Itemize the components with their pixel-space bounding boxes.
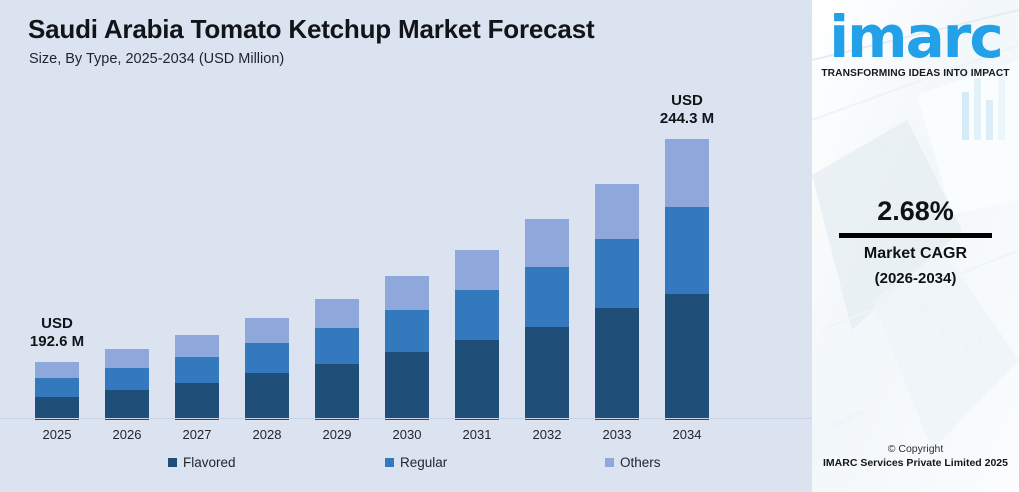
page-title: Saudi Arabia Tomato Ketchup Market Forec… [28,14,594,45]
x-axis-tick-labels: 2025202620272028202920302031203220332034 [0,424,812,448]
bar-segment-flavored [455,340,499,420]
bar-segment-others [245,318,289,343]
x-tick-2034: 2034 [652,427,722,442]
bar-segment-regular [385,310,429,352]
bar-2030 [385,276,429,420]
bar-segment-flavored [105,390,149,420]
imarc-logo: imarc TRANSFORMING IDEAS INTO IMPACT [812,8,1019,79]
x-tick-2032: 2032 [512,427,582,442]
cagr-label: Market CAGR [812,245,1019,263]
bar-segment-flavored [245,373,289,420]
legend-item-others: Others [605,455,661,470]
legend-label-regular: Regular [400,455,447,470]
x-tick-2033: 2033 [582,427,652,442]
cagr-period: (2026-2034) [812,270,1019,287]
logo-tagline: TRANSFORMING IDEAS INTO IMPACT [812,68,1019,79]
bar-segment-flavored [175,383,219,420]
bar-segment-flavored [665,294,709,420]
x-axis-line [0,418,812,419]
bar-segment-regular [35,378,79,397]
copyright-line-1: © Copyright [812,443,1019,455]
infographic-page: Saudi Arabia Tomato Ketchup Market Forec… [0,0,1019,492]
legend-swatch-regular [385,458,394,467]
x-tick-2031: 2031 [442,427,512,442]
legend-swatch-flavored [168,458,177,467]
bar-segment-regular [665,207,709,294]
bar-segment-others [175,335,219,357]
bar-segment-regular [595,239,639,308]
copyright-line-2: IMARC Services Private Limited 2025 [812,457,1019,469]
cagr-divider [839,233,992,238]
x-tick-2028: 2028 [232,427,302,442]
bar-segment-regular [315,328,359,364]
brand-panel: 500.0 0.0 1 2 3 4 0982048 imarc TRANSFOR… [812,0,1019,492]
bar-2029 [315,299,359,420]
bar-segment-others [35,362,79,378]
bar-chart-plot: USD 192.6 MUSD 244.3 M [0,80,812,420]
bar-segment-flavored [525,327,569,420]
logo-wordmark: imarc [812,8,1019,66]
bar-2034: USD 244.3 M [665,139,709,420]
bar-segment-flavored [385,352,429,420]
bar-value-label-2034: USD 244.3 M [627,92,747,130]
legend-swatch-others [605,458,614,467]
legend-item-flavored: Flavored [168,455,236,470]
bar-segment-flavored [35,397,79,420]
bar-segment-others [455,250,499,290]
bar-segment-regular [245,343,289,373]
bar-2032 [525,219,569,420]
legend-label-others: Others [620,455,661,470]
legend-item-regular: Regular [385,455,447,470]
bar-segment-others [105,349,149,368]
bar-2026 [105,349,149,420]
bar-segment-regular [525,267,569,327]
chart-panel: Saudi Arabia Tomato Ketchup Market Forec… [0,0,812,492]
bar-segment-flavored [315,364,359,420]
bar-2025: USD 192.6 M [35,362,79,420]
x-tick-2029: 2029 [302,427,372,442]
bar-segment-others [665,139,709,207]
chart-legend: FlavoredRegularOthers [0,455,812,479]
bar-segment-others [315,299,359,328]
bar-segment-others [595,184,639,239]
bar-segment-flavored [595,308,639,420]
bar-segment-regular [455,290,499,340]
bar-2027 [175,335,219,420]
x-tick-2030: 2030 [372,427,442,442]
copyright-block: © Copyright IMARC Services Private Limit… [812,443,1019,469]
bar-2028 [245,318,289,420]
legend-label-flavored: Flavored [183,455,236,470]
bar-value-label-2025: USD 192.6 M [0,315,117,353]
bar-2033 [595,184,639,420]
bar-segment-others [385,276,429,310]
bar-2031 [455,250,499,420]
cagr-value: 2.68% [812,196,1019,227]
bar-segment-others [525,219,569,267]
bar-segment-regular [175,357,219,383]
x-tick-2027: 2027 [162,427,232,442]
chart-subtitle: Size, By Type, 2025-2034 (USD Million) [29,51,284,67]
bar-segment-regular [105,368,149,390]
x-tick-2025: 2025 [22,427,92,442]
x-tick-2026: 2026 [92,427,162,442]
